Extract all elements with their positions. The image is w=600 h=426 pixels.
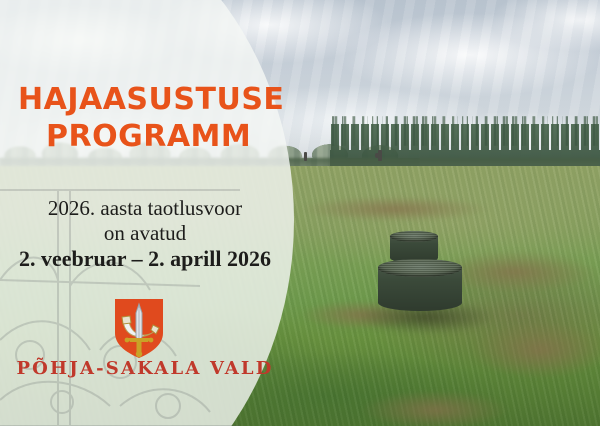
page-title-line2: PROGRAMM xyxy=(0,122,288,152)
tank-lid xyxy=(378,259,462,277)
application-date-range: 2. veebruar – 2. aprill 2026 xyxy=(0,246,290,272)
page-title-line1: HAJAASUSTUSE xyxy=(0,85,288,115)
dirt-patch xyxy=(360,390,510,426)
subtitle-line2: on avatud xyxy=(0,221,290,246)
municipality-name: PÕHJA-SAKALA VALD xyxy=(0,358,290,379)
subtitle-line1: 2026. aasta taotlusvoor xyxy=(0,196,290,221)
field-post xyxy=(304,152,307,161)
poster-text-panel: HAJAASUSTUSE PROGRAMM 2026. aasta taotlu… xyxy=(0,0,300,426)
coat-of-arms-icon xyxy=(113,297,165,359)
tank-lid xyxy=(390,231,438,242)
poster-banner: HAJAASUSTUSE PROGRAMM 2026. aasta taotlu… xyxy=(0,0,600,426)
septic-tank-cover-large xyxy=(378,259,462,311)
spruce-treetops xyxy=(330,116,600,146)
field-post xyxy=(375,153,382,158)
dirt-patch xyxy=(300,196,490,222)
